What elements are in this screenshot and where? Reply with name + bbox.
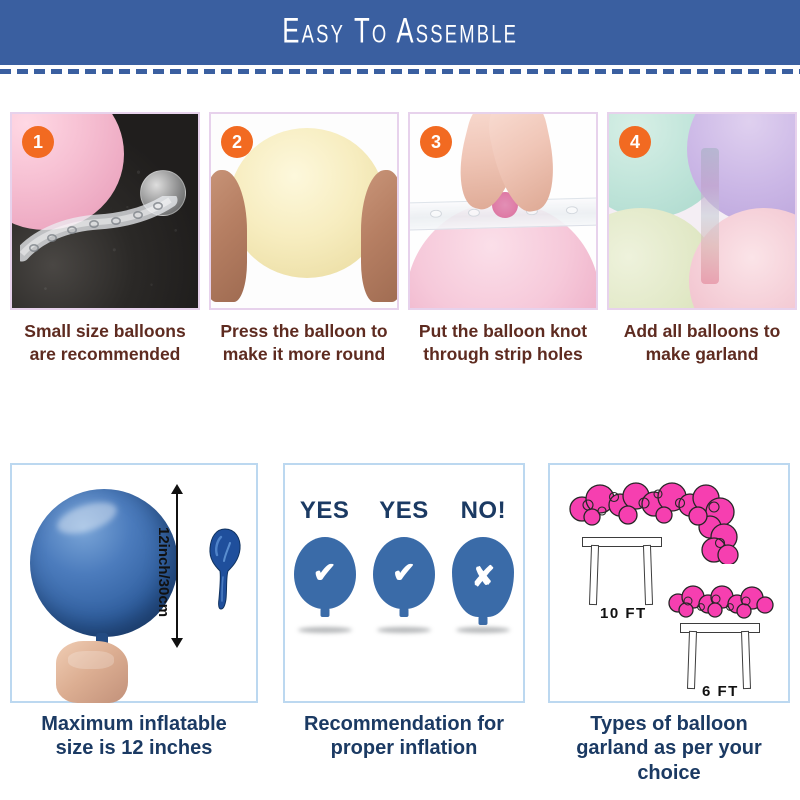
strip-hole-icon — [566, 206, 578, 214]
step-caption-2-line1: Press the balloon to — [211, 320, 397, 343]
hand-holding-balloon-icon — [56, 641, 128, 703]
balloon-neck-icon — [320, 608, 329, 617]
dimension-label: 12inch/30cm — [155, 527, 172, 617]
step-photo-2: 2 — [209, 112, 399, 310]
table-leg — [589, 545, 599, 605]
deflated-balloon-icon — [208, 527, 242, 611]
right-hand-icon — [361, 170, 399, 302]
step-caption-4-line1: Add all balloons to — [609, 320, 795, 343]
step-badge-1: 1 — [22, 126, 54, 158]
step-caption-4: Add all balloons to make garland — [607, 320, 797, 367]
panel-caption-garland-line2: garland as per your choice — [542, 736, 796, 785]
header-dashed-rule — [0, 69, 800, 74]
garland-size-label-10ft: 10 FT — [600, 605, 647, 622]
step-photo-3: 3 — [408, 112, 598, 310]
balloon-neck-icon — [399, 608, 408, 617]
garland-size-label-6ft: 6 FT — [702, 683, 739, 700]
inflation-option-2: YES ✔ — [370, 497, 438, 633]
panel-caption-garland-line1: Types of balloon — [542, 712, 796, 736]
step-card-3: 3 Put the balloon knot through strip hol… — [408, 112, 598, 367]
inflation-option-1-balloon: ✔ — [294, 537, 356, 609]
inflation-option-2-balloon: ✔ — [373, 537, 435, 609]
balloon-strip-icon — [701, 148, 719, 284]
assembly-steps-row: 1 Small size balloons are recommended 2 … — [10, 112, 790, 367]
table-leg — [687, 631, 697, 689]
inflation-option-3: NO! ✘ — [449, 497, 517, 633]
step-caption-3-line2: through strip holes — [410, 343, 596, 366]
table-leg — [741, 631, 751, 689]
step-card-1: 1 Small size balloons are recommended — [10, 112, 200, 367]
step-badge-4: 4 — [619, 126, 651, 158]
inflation-option-1-label: YES — [291, 497, 359, 525]
panel-max-inflatable-size: 12inch/30cm — [10, 463, 258, 703]
garland-6ft-icon — [668, 585, 774, 621]
panel-caption-max-size-line1: Maximum inflatable — [10, 712, 258, 736]
step-caption-2: Press the balloon to make it more round — [209, 320, 399, 367]
dimension-arrow-icon — [176, 493, 178, 639]
inflation-option-1: YES ✔ — [291, 497, 359, 633]
panel-caption-max-size-line2: size is 12 inches — [10, 736, 258, 760]
page-title: Easy To Assemble — [282, 11, 518, 51]
step-photo-4: 4 — [607, 112, 797, 310]
inflation-option-2-label: YES — [370, 497, 438, 525]
step-caption-4-line2: make garland — [609, 343, 795, 366]
check-icon: ✔ — [392, 559, 415, 587]
step-caption-1-line2: are recommended — [12, 343, 198, 366]
step-caption-1-line1: Small size balloons — [12, 320, 198, 343]
panel-caption-inflation-line1: Recommendation for — [283, 712, 525, 736]
balloon-strip-icon — [20, 196, 178, 270]
panel-caption-garland: Types of balloon garland as per your cho… — [542, 712, 796, 785]
step-caption-3: Put the balloon knot through strip holes — [408, 320, 598, 367]
panel-garland-types: 10 FT 6 FT — [548, 463, 790, 703]
panel-caption-inflation: Recommendation for proper inflation — [283, 712, 525, 761]
check-icon: ✔ — [313, 559, 336, 587]
strip-hole-icon — [430, 210, 442, 218]
balloon-shadow — [456, 627, 510, 633]
header-banner: Easy To Assemble — [0, 0, 800, 62]
panel-caption-max-size: Maximum inflatable size is 12 inches — [10, 712, 258, 761]
step-card-2: 2 Press the balloon to make it more roun… — [209, 112, 399, 367]
cross-icon: ✘ — [472, 563, 495, 591]
step-badge-2: 2 — [221, 126, 253, 158]
step-caption-1: Small size balloons are recommended — [10, 320, 200, 367]
step-caption-2-line2: make it more round — [211, 343, 397, 366]
step-photo-1: 1 — [10, 112, 200, 310]
header-solid-rule — [0, 62, 800, 65]
balloon-shadow — [377, 627, 431, 633]
step-card-4: 4 Add all balloons to make garland — [607, 112, 797, 367]
panel-proper-inflation: YES ✔ YES ✔ NO! ✘ — [283, 463, 525, 703]
inflation-option-3-balloon: ✘ — [452, 537, 514, 617]
balloon-shadow — [298, 627, 352, 633]
strip-hole-icon — [468, 209, 480, 217]
step-caption-3-line1: Put the balloon knot — [410, 320, 596, 343]
step-badge-3: 3 — [420, 126, 452, 158]
balloon-neck-icon — [479, 616, 488, 625]
panel-caption-inflation-line2: proper inflation — [283, 736, 525, 760]
inflation-option-3-label: NO! — [449, 497, 517, 525]
inflation-options-row: YES ✔ YES ✔ NO! ✘ — [285, 497, 523, 633]
